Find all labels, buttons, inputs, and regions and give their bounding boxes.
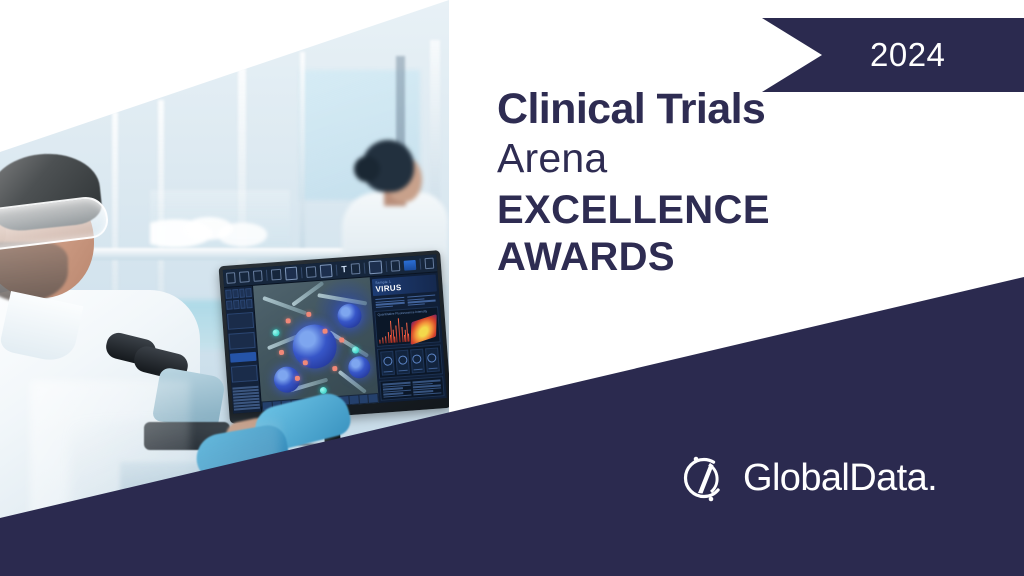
property-value-line <box>407 303 424 306</box>
software-right-panel: Sample 1 VIRUS <box>370 272 447 403</box>
findings-notes <box>379 376 444 400</box>
toolbar-divider-2 <box>301 267 303 278</box>
monitor-screen: T <box>223 254 447 413</box>
grid-icon <box>253 270 263 282</box>
globaldata-logo: GlobalData. <box>678 452 937 504</box>
background-scientist-bun <box>354 156 380 182</box>
left-cell <box>239 289 245 298</box>
text-tool-icon: T <box>341 265 347 274</box>
virus-particle <box>347 356 371 380</box>
left-cell <box>245 288 251 297</box>
logo-dot-top <box>694 457 699 462</box>
frames-icon <box>319 264 333 278</box>
sample-thumb <box>383 357 393 367</box>
cyan-marker <box>351 346 358 353</box>
logo-dot-bottom <box>709 497 714 502</box>
timeline-cell <box>369 394 378 403</box>
award-title-block: Clinical Trials Arena EXCELLENCE AWARDS <box>497 88 977 281</box>
virus-spike <box>332 366 337 371</box>
sample-thumb <box>427 353 437 363</box>
pointer-icon <box>271 269 281 281</box>
left-panel-block-2 <box>228 332 255 350</box>
virus-spike <box>339 337 344 342</box>
software-body: Sample 1 VIRUS <box>224 272 447 413</box>
sample-card <box>395 350 410 375</box>
virus-panel-header: Sample 1 VIRUS <box>372 274 437 296</box>
award-graphic-canvas: T <box>0 0 1024 576</box>
layers-icon <box>369 260 383 274</box>
title-line-clinical-trials: Clinical Trials <box>497 88 977 131</box>
shape-icon <box>239 271 249 283</box>
sample-caption <box>384 371 393 373</box>
virus-spike <box>279 349 284 354</box>
left-cell <box>233 300 239 309</box>
toolbar-divider-5 <box>385 261 387 272</box>
property-values <box>407 295 436 306</box>
virus-spike <box>322 328 327 333</box>
sample-caption <box>413 369 422 371</box>
virus-sample-cards <box>377 345 443 379</box>
crop-icon <box>284 267 298 281</box>
left-cell <box>232 289 238 298</box>
title-line-arena: Arena <box>497 133 977 183</box>
left-panel-row-1 <box>225 288 252 299</box>
left-list-line <box>234 407 260 410</box>
left-cell <box>225 289 231 298</box>
year-ribbon: 2024 <box>762 18 1024 92</box>
left-cell <box>226 300 232 309</box>
left-cell <box>246 299 252 308</box>
glass-partition-4 <box>300 52 305 252</box>
globaldata-wordmark: GlobalData. <box>743 459 937 497</box>
notes-column <box>383 382 412 398</box>
virus-spike <box>307 312 312 317</box>
left-panel-row-2 <box>226 299 253 310</box>
style-icon <box>350 263 360 275</box>
sample-card <box>410 349 425 374</box>
toolbar-divider-4 <box>364 263 366 274</box>
left-panel-action-button <box>230 352 257 363</box>
sample-caption <box>428 368 437 370</box>
virus-particle <box>337 303 363 329</box>
toolbar-divider-3 <box>336 265 338 276</box>
play-icon <box>306 266 316 278</box>
toolbar-divider-1 <box>266 270 268 281</box>
left-panel-block-1 <box>227 312 254 330</box>
sample-card <box>425 348 440 373</box>
toolbar-divider-6 <box>419 259 421 270</box>
virus-particle <box>291 323 338 370</box>
ceiling-beam-1 <box>180 0 449 55</box>
sample-caption <box>399 370 408 372</box>
timeline-cell <box>349 395 358 404</box>
bar <box>408 334 409 342</box>
cyan-marker <box>273 329 280 336</box>
globaldata-circle-mark <box>678 452 730 504</box>
sample-thumb <box>398 355 408 365</box>
ceiling-beam-2 <box>170 0 449 73</box>
surface-plot <box>411 314 437 345</box>
pen-icon <box>226 272 236 284</box>
settings-icon <box>424 258 434 270</box>
virus-visualization-canvas <box>253 277 379 411</box>
year-label: 2024 <box>870 36 945 74</box>
virus-spike <box>286 318 291 323</box>
property-keys <box>375 297 404 308</box>
property-key-line <box>376 305 393 308</box>
virus-rod <box>317 293 367 305</box>
fluorescence-chart: Quantitative Fluorescence Intensity <box>374 306 440 347</box>
notes-column <box>412 380 441 396</box>
left-panel-block-3 <box>231 365 258 383</box>
title-line-awards: AWARDS <box>497 234 977 281</box>
title-line-excellence: EXCELLENCE <box>497 187 977 234</box>
ceiling-light-panel <box>200 0 449 56</box>
left-cell <box>240 299 246 308</box>
ruler-icon <box>390 260 400 272</box>
timeline-cell <box>359 395 368 404</box>
left-panel-list <box>232 386 260 410</box>
active-tool-icon <box>404 259 416 270</box>
sample-card <box>380 351 395 376</box>
sample-thumb <box>412 354 422 364</box>
